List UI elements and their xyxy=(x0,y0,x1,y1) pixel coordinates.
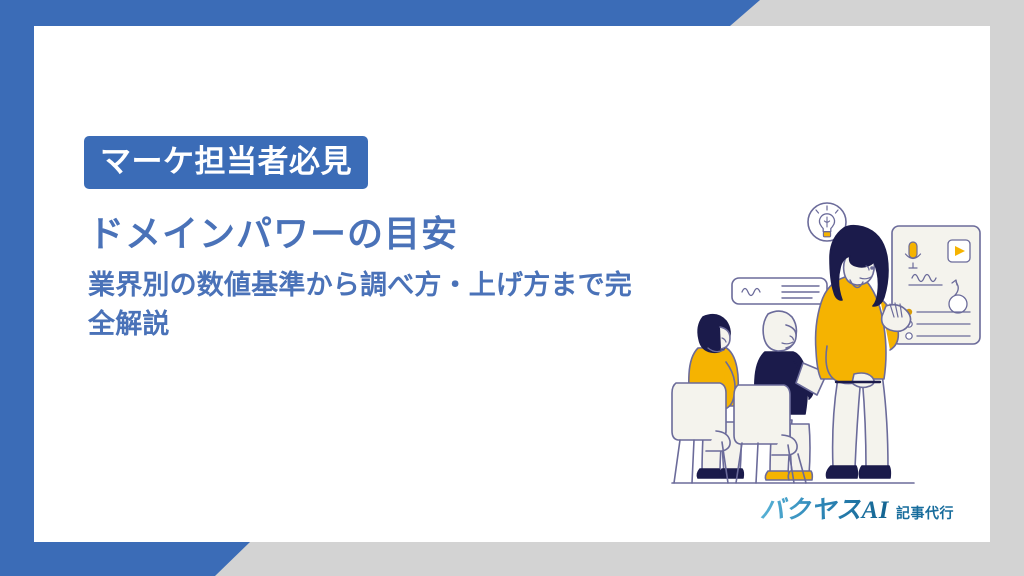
left-blue-band xyxy=(0,0,34,576)
illustration-svg xyxy=(664,186,1014,506)
presentation-illustration xyxy=(664,186,1014,506)
top-blue-band xyxy=(0,0,760,26)
speech-bubble xyxy=(732,278,827,304)
page-subtitle: 業界別の数値基準から調べ方・上げ方まで完全解説 xyxy=(88,266,633,343)
seated-person-left xyxy=(672,315,743,483)
play-button-icon xyxy=(948,240,970,262)
bottom-blue-band xyxy=(0,542,250,576)
audience-badge: マーケ担当者必見 xyxy=(84,136,368,189)
white-content-panel: マーケ担当者必見 ドメインパワーの目安 業界別の数値基準から調べ方・上げ方まで完… xyxy=(34,26,990,542)
text-block: マーケ担当者必見 ドメインパワーの目安 業界別の数値基準から調べ方・上げ方まで完… xyxy=(84,136,654,343)
page-title: ドメインパワーの目安 xyxy=(88,211,654,256)
seated-person-right xyxy=(734,311,827,483)
slide-canvas: マーケ担当者必見 ドメインパワーの目安 業界別の数値基準から調べ方・上げ方まで完… xyxy=(0,0,1024,576)
